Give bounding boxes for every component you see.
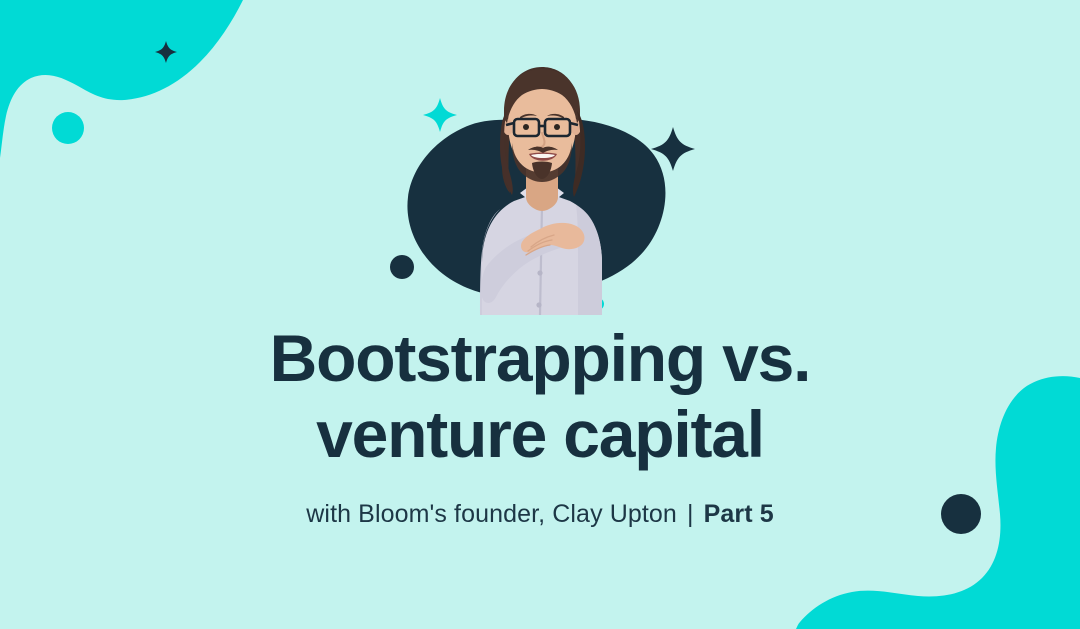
subtitle-lead: with Bloom's founder, Clay Upton (306, 500, 677, 528)
subtitle-part-badge: Part 5 (704, 500, 774, 528)
teal-circle-topleft (52, 112, 84, 144)
eye-right (554, 124, 560, 130)
subtitle-separator: | (684, 500, 697, 528)
top-left-blob (0, 0, 243, 158)
shirt-button (536, 302, 541, 307)
shirt-button (537, 270, 542, 275)
text-block: Bootstrapping vs. venture capital with B… (0, 320, 1080, 530)
navy-star-topleft-icon (155, 41, 177, 63)
page-title: Bootstrapping vs. venture capital (0, 320, 1080, 472)
subtitle: with Bloom's founder, Clay Upton | Part … (0, 472, 1080, 530)
portrait-group (390, 55, 690, 315)
eye-left (523, 124, 529, 130)
portrait-photo (390, 55, 690, 315)
title-line-2: venture capital (0, 396, 1080, 472)
promo-graphic: Bootstrapping vs. venture capital with B… (0, 0, 1080, 629)
title-line-1: Bootstrapping vs. (0, 320, 1080, 396)
